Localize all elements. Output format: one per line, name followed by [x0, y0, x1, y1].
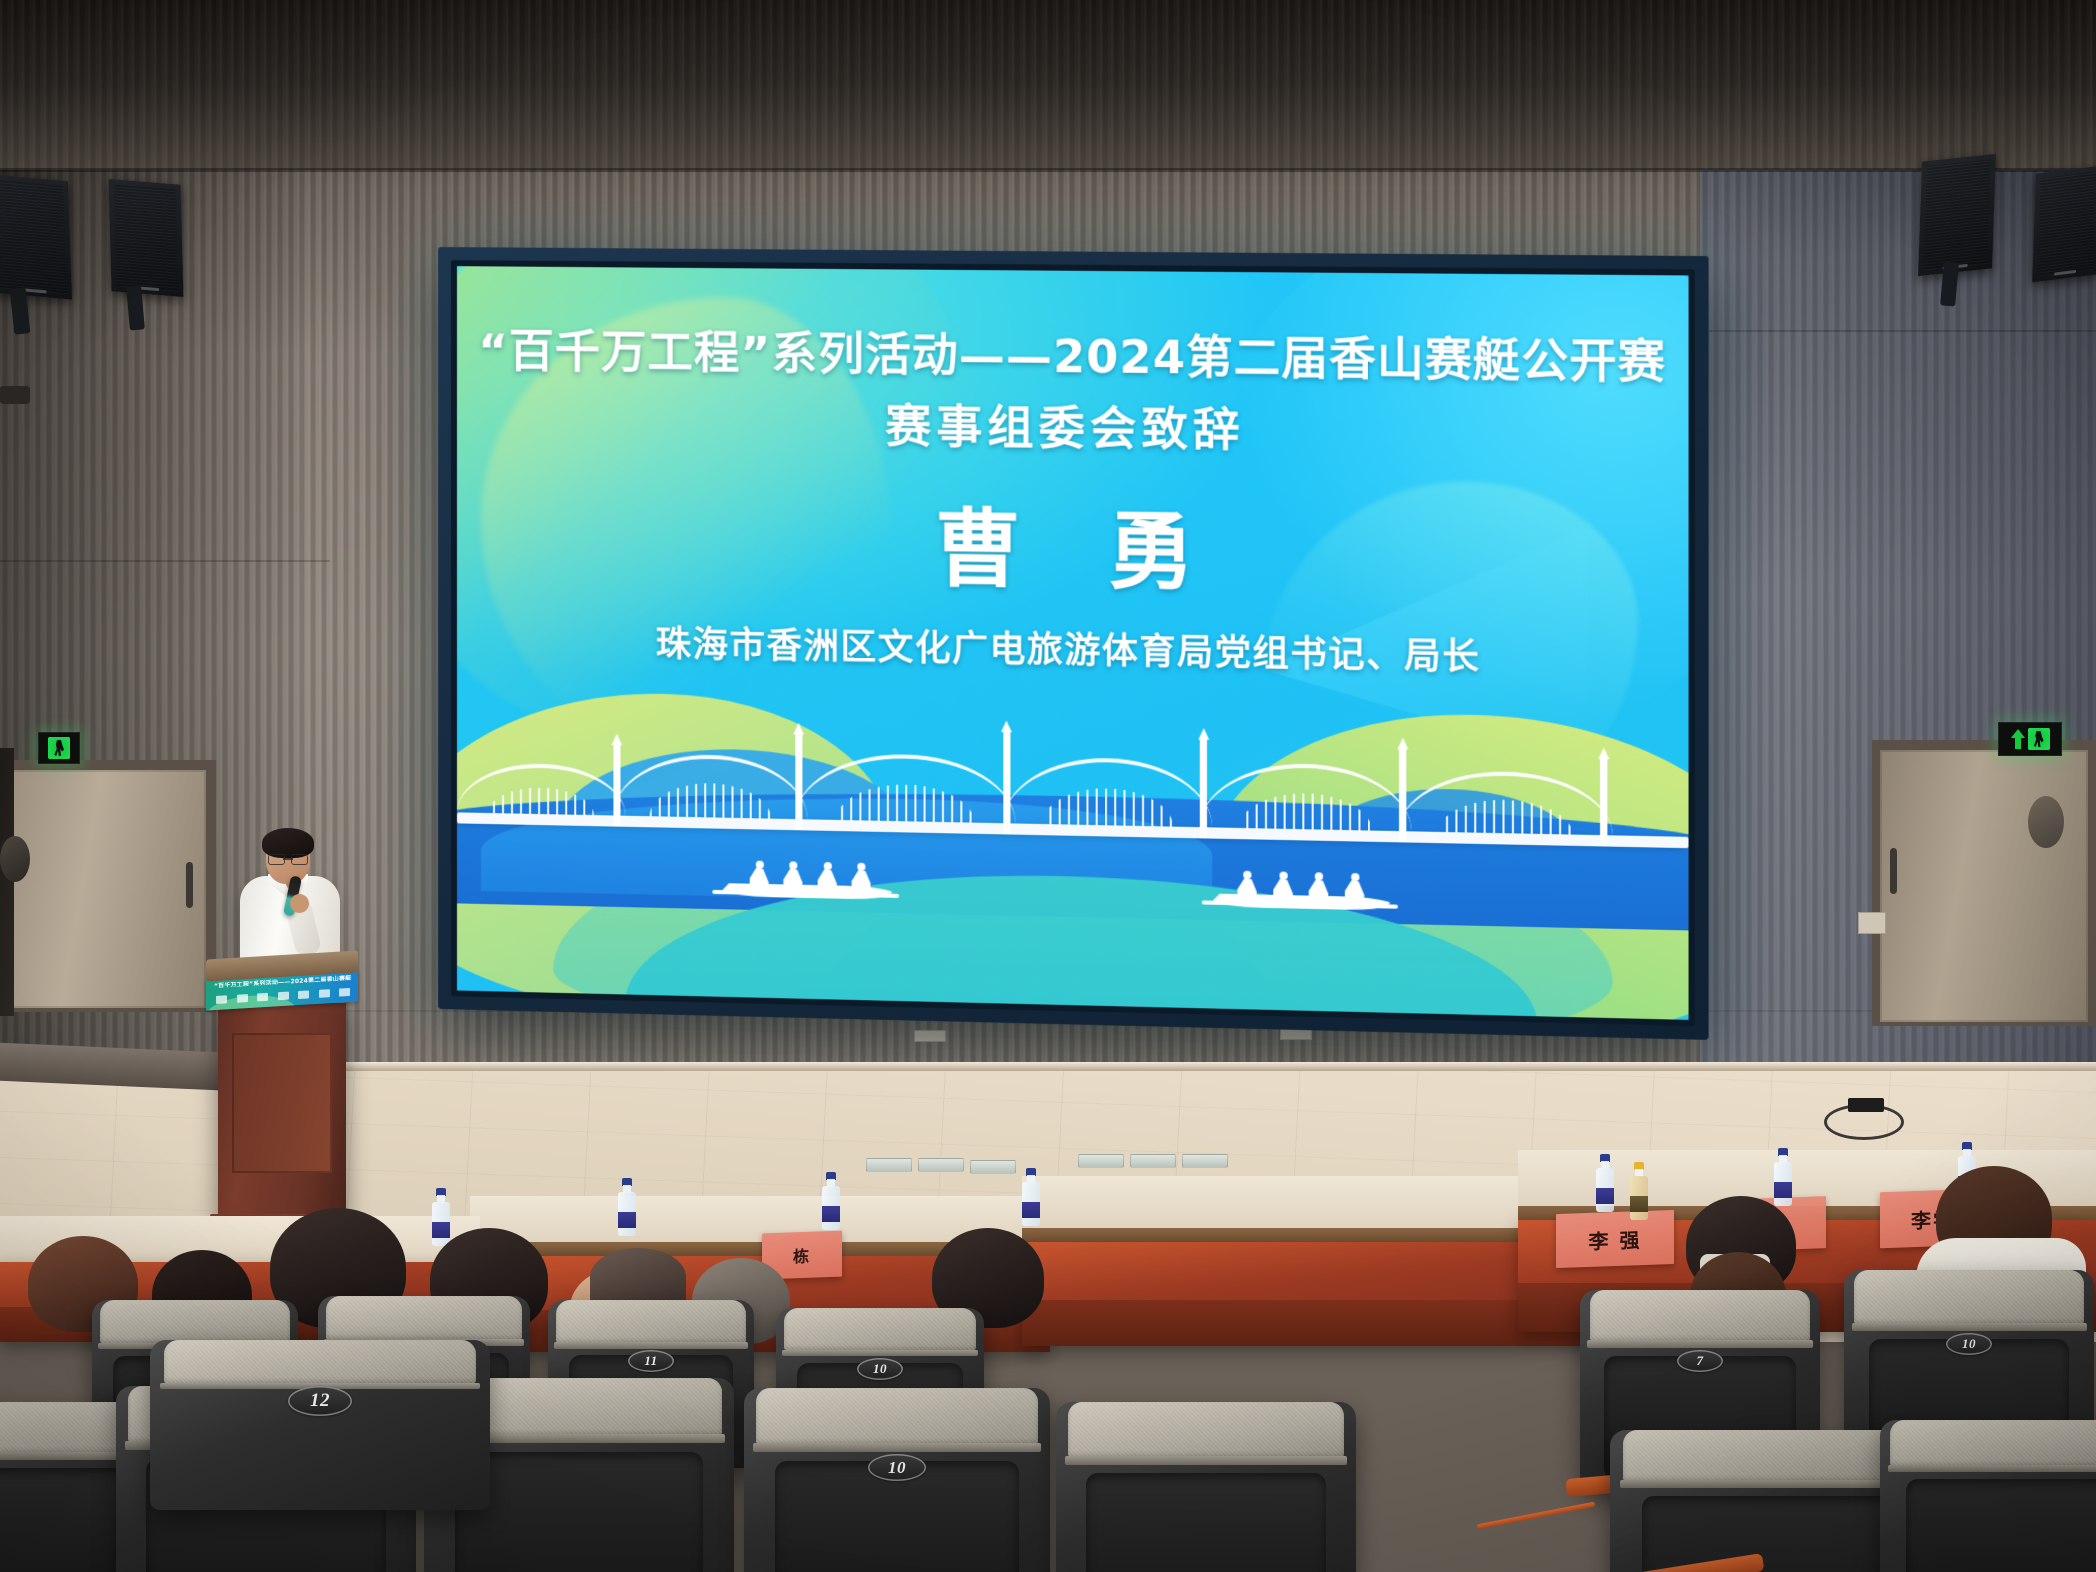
wall-speaker-icon	[0, 174, 72, 299]
oar	[818, 892, 852, 897]
bridge-hangers	[1200, 771, 1412, 832]
wall-seam	[0, 560, 330, 562]
right-door-handle[interactable]	[1890, 848, 1897, 894]
slide-title-line1: “百千万工程”系列活动——2024第二届香山赛艇公开赛	[457, 324, 1689, 391]
door-porthole	[2028, 796, 2064, 848]
oar	[1259, 902, 1295, 907]
running-man-icon	[48, 737, 70, 759]
left-door-edge	[0, 748, 14, 1016]
right-door[interactable]	[1880, 750, 2088, 1022]
left-door-handle[interactable]	[186, 862, 193, 908]
floor-outlet[interactable]	[1078, 1154, 1124, 1168]
rowing-boat-right-icon	[1213, 860, 1392, 911]
rowing-boat-left-icon	[722, 850, 893, 900]
seat-number-badge: 10	[1946, 1333, 1992, 1355]
conference-hall-photo: “百千万工程”系列活动——2024第二届香山赛艇公开赛 赛事组委会致辞 曹 勇 …	[0, 0, 2096, 1572]
seat-number-badge: 11	[628, 1350, 674, 1372]
suspension-bridge-icon	[457, 714, 1689, 859]
glasses-icon	[268, 854, 308, 863]
floor-outlet[interactable]	[866, 1158, 912, 1172]
ceiling-sensor-icon	[0, 386, 30, 404]
bridge-hangers	[795, 761, 1015, 824]
door-porthole	[0, 836, 30, 882]
bridge-hangers	[1003, 765, 1213, 828]
podium: “百千万工程”系列活动——2024第二届香山赛艇公开赛	[218, 955, 346, 1220]
audience-hair	[590, 1248, 686, 1306]
wall-outlet[interactable]	[1858, 912, 1886, 934]
seat-foreground[interactable]: 12	[150, 1340, 490, 1510]
slide-title-line2: 赛事组委会致辞	[457, 385, 1689, 464]
water-bottle	[1596, 1154, 1614, 1212]
bridge-hangers	[613, 762, 807, 820]
seat[interactable]	[1880, 1420, 2096, 1572]
water-bottle	[1022, 1168, 1040, 1226]
seat-number-badge: 10	[868, 1454, 926, 1481]
floor-outlet[interactable]	[918, 1158, 964, 1172]
seat[interactable]: 10	[744, 1388, 1050, 1572]
podium-body	[218, 1003, 346, 1220]
floor-cable-connector	[1848, 1098, 1884, 1112]
ceiling	[0, 0, 2096, 170]
ceiling-texture	[0, 0, 2096, 170]
wall-outlet[interactable]	[914, 1030, 946, 1042]
bridge-hangers	[457, 771, 625, 816]
water-bottle	[618, 1178, 636, 1236]
presenter-hand	[290, 894, 309, 913]
floor-outlet[interactable]	[1182, 1154, 1228, 1168]
seat-number-badge: 10	[857, 1358, 903, 1380]
seat-number-badge: 12	[288, 1386, 352, 1416]
seat-armrest-group	[1476, 1476, 1626, 1536]
up-arrow-icon	[2011, 729, 2025, 749]
delegate-table-center-right	[1022, 1242, 1602, 1346]
oar	[766, 891, 800, 896]
wall-seam	[1680, 330, 2096, 332]
running-man-icon	[2028, 728, 2050, 750]
exit-sign-right	[1998, 722, 2062, 756]
seat-number-badge: 7	[1677, 1350, 1723, 1372]
tea-bottle	[1630, 1162, 1648, 1220]
table-backdrop	[1022, 1176, 1582, 1234]
wall-speaker-icon	[109, 179, 184, 297]
water-bottle	[822, 1172, 840, 1230]
slide-speaker-name: 曹 勇	[457, 498, 1689, 604]
slide-bottom-graphic	[457, 657, 1689, 1020]
screen-content: “百千万工程”系列活动——2024第二届香山赛艇公开赛 赛事组委会致辞 曹 勇 …	[457, 266, 1689, 1020]
wall-speaker-icon	[2032, 166, 2096, 283]
ceiling-seam	[0, 168, 2096, 172]
led-presentation-screen[interactable]: “百千万工程”系列活动——2024第二届香山赛艇公开赛 赛事组委会致辞 曹 勇 …	[438, 247, 1709, 1040]
floor-outlet[interactable]	[1130, 1154, 1176, 1168]
floor-outlet[interactable]	[970, 1160, 1016, 1174]
bridge-hangers	[1399, 778, 1612, 835]
slide-text-block: “百千万工程”系列活动——2024第二届香山赛艇公开赛 赛事组委会致辞 曹 勇 …	[457, 266, 1689, 684]
podium-front-panel	[232, 1033, 332, 1173]
exit-sign-left	[38, 732, 80, 764]
wall-speaker-icon	[1918, 154, 1996, 276]
nameplate: 李 强	[1556, 1210, 1674, 1268]
seat[interactable]	[1056, 1402, 1356, 1572]
left-door[interactable]	[6, 770, 206, 1008]
oar	[1312, 903, 1348, 908]
